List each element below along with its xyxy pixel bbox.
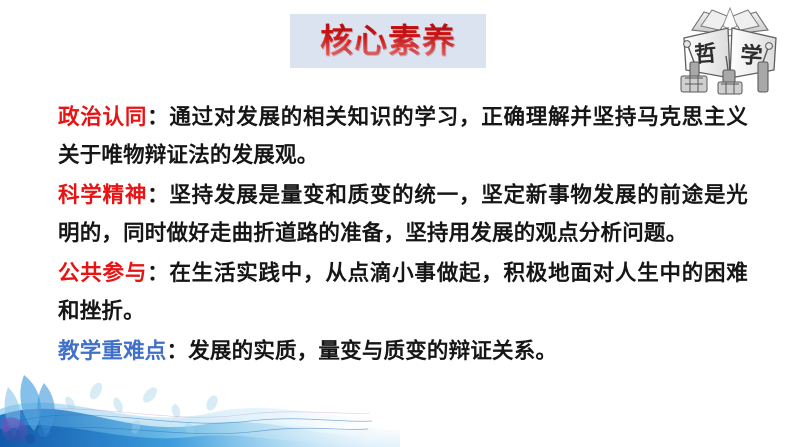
objective-separator: ： — [167, 339, 189, 363]
objective-separator: ： — [147, 183, 169, 207]
objective-separator: ： — [147, 105, 169, 129]
objective-label-scientific-spirit: 科学精神 — [58, 183, 147, 207]
objective-item: 公共参与：在生活实践中，从点滴小事做起，积极地面对人生中的困难和挫折。 — [58, 254, 748, 330]
objective-item: 政治认同：通过对发展的相关知识的学习，正确理解并坚持马克思主义关于唯物辩证法的发… — [58, 98, 748, 174]
objective-content-key-difficult-points: 发展的实质，量变与质变的辩证关系。 — [188, 339, 557, 363]
core-literacy-content: 政治认同：通过对发展的相关知识的学习，正确理解并坚持马克思主义关于唯物辩证法的发… — [58, 98, 748, 372]
blue-wave-decoration — [0, 369, 400, 447]
philosophy-book-logo: 哲 学 — [668, 0, 792, 96]
objective-separator: ： — [147, 261, 169, 285]
objective-item: 教学重难点：发展的实质，量变与质变的辩证关系。 — [58, 332, 748, 370]
page-title: 核心素养 — [290, 16, 486, 66]
objective-label-political-identity: 政治认同 — [58, 105, 147, 129]
objective-item: 科学精神：坚持发展是量变和质变的统一，坚定新事物发展的前途是光明的，同时做好走曲… — [58, 176, 748, 252]
objective-label-public-participation: 公共参与 — [58, 261, 147, 285]
objective-label-key-difficult-points: 教学重难点 — [58, 339, 167, 363]
slide-canvas: 核心素养 — [0, 0, 794, 447]
